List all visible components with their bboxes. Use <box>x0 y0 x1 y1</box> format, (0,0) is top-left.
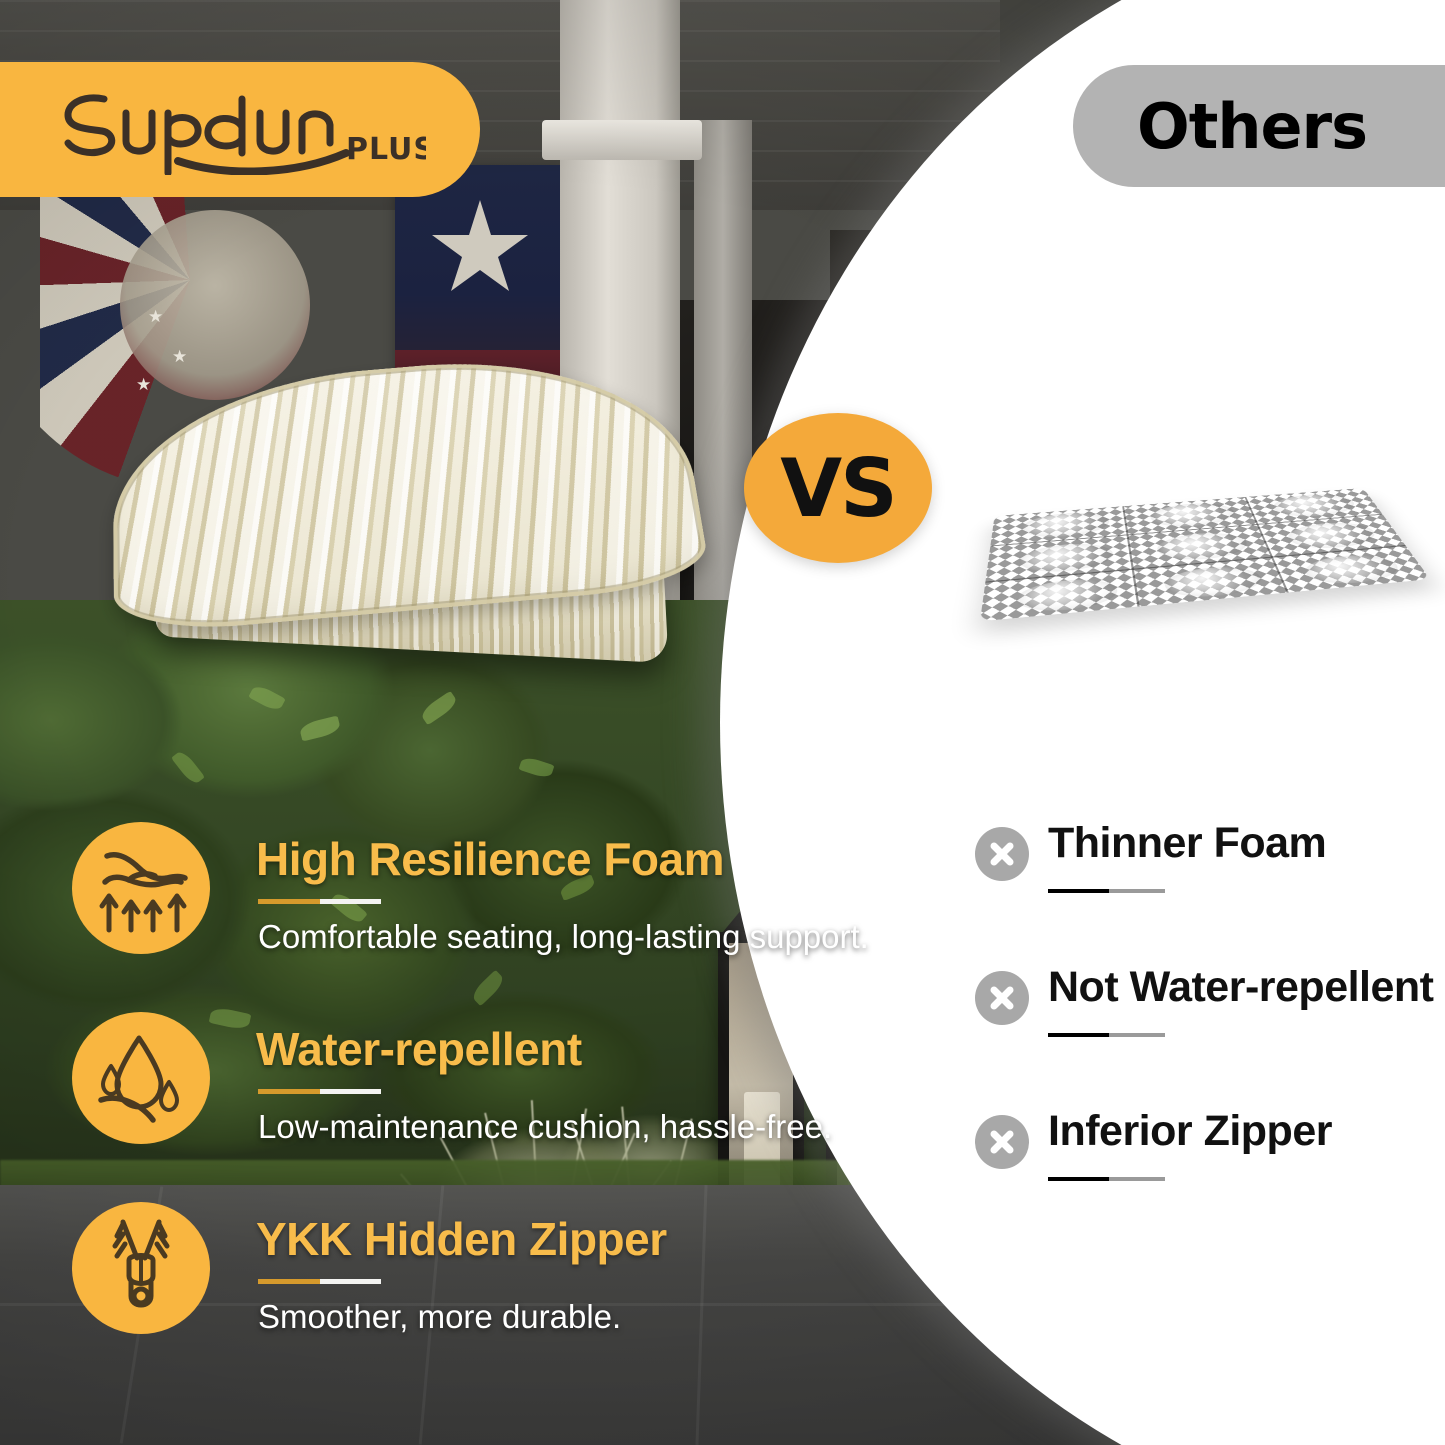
con-title: Thinner Foam <box>1048 819 1326 868</box>
others-cushion-body <box>980 488 1430 621</box>
circle-x-icon <box>975 1115 1029 1169</box>
vs-label: VS <box>780 442 896 535</box>
others-label: Others <box>1137 90 1367 163</box>
comparison-infographic: ★ ★ ★ ★ ★ <box>0 0 1445 1445</box>
feature-title: YKK Hidden Zipper <box>256 1212 667 1266</box>
supdun-cushion-image <box>87 344 723 706</box>
feature-row: High Resilience Foam Comfortable seating… <box>72 818 772 1008</box>
circle-x-icon <box>975 827 1029 881</box>
vs-badge: VS <box>744 413 932 563</box>
feature-subtitle: Smoother, more durable. <box>258 1298 621 1336</box>
feature-divider <box>258 899 381 904</box>
zipper-icon <box>72 1202 210 1334</box>
con-title: Inferior Zipper <box>1048 1107 1332 1156</box>
con-divider <box>1048 1033 1165 1037</box>
feature-subtitle: Low-maintenance cushion, hassle-free. <box>258 1108 832 1146</box>
others-cushion-image <box>975 395 1415 660</box>
feature-title: High Resilience Foam <box>256 832 724 886</box>
feature-row: Water-repellent Low-maintenance cushion,… <box>72 1008 772 1198</box>
feature-title: Water-repellent <box>256 1022 582 1076</box>
others-con-list: Thinner Foam Not Water-repellent <box>975 822 1445 1254</box>
circle-x-icon <box>975 971 1029 1025</box>
feature-divider <box>258 1089 381 1094</box>
con-row: Not Water-repellent <box>975 966 1445 1110</box>
feature-subtitle: Comfortable seating, long-lasting suppor… <box>258 918 869 956</box>
feature-divider <box>258 1279 381 1284</box>
svg-text:PLUS: PLUS <box>346 132 426 167</box>
con-title: Not Water-repellent <box>1048 963 1434 1012</box>
con-row: Thinner Foam <box>975 822 1445 966</box>
con-divider <box>1048 889 1165 893</box>
water-droplet-repellent-icon <box>72 1012 210 1144</box>
supdun-logo-icon: PLUS <box>56 85 426 175</box>
seat-support-arrows-icon <box>72 822 210 954</box>
con-row: Inferior Zipper <box>975 1110 1445 1254</box>
con-divider <box>1048 1177 1165 1181</box>
others-header-pill: Others <box>1073 65 1445 187</box>
brand-logo-pill: PLUS <box>0 62 480 197</box>
supdun-feature-list: High Resilience Foam Comfortable seating… <box>72 818 772 1388</box>
feature-row: YKK Hidden Zipper Smoother, more durable… <box>72 1198 772 1388</box>
